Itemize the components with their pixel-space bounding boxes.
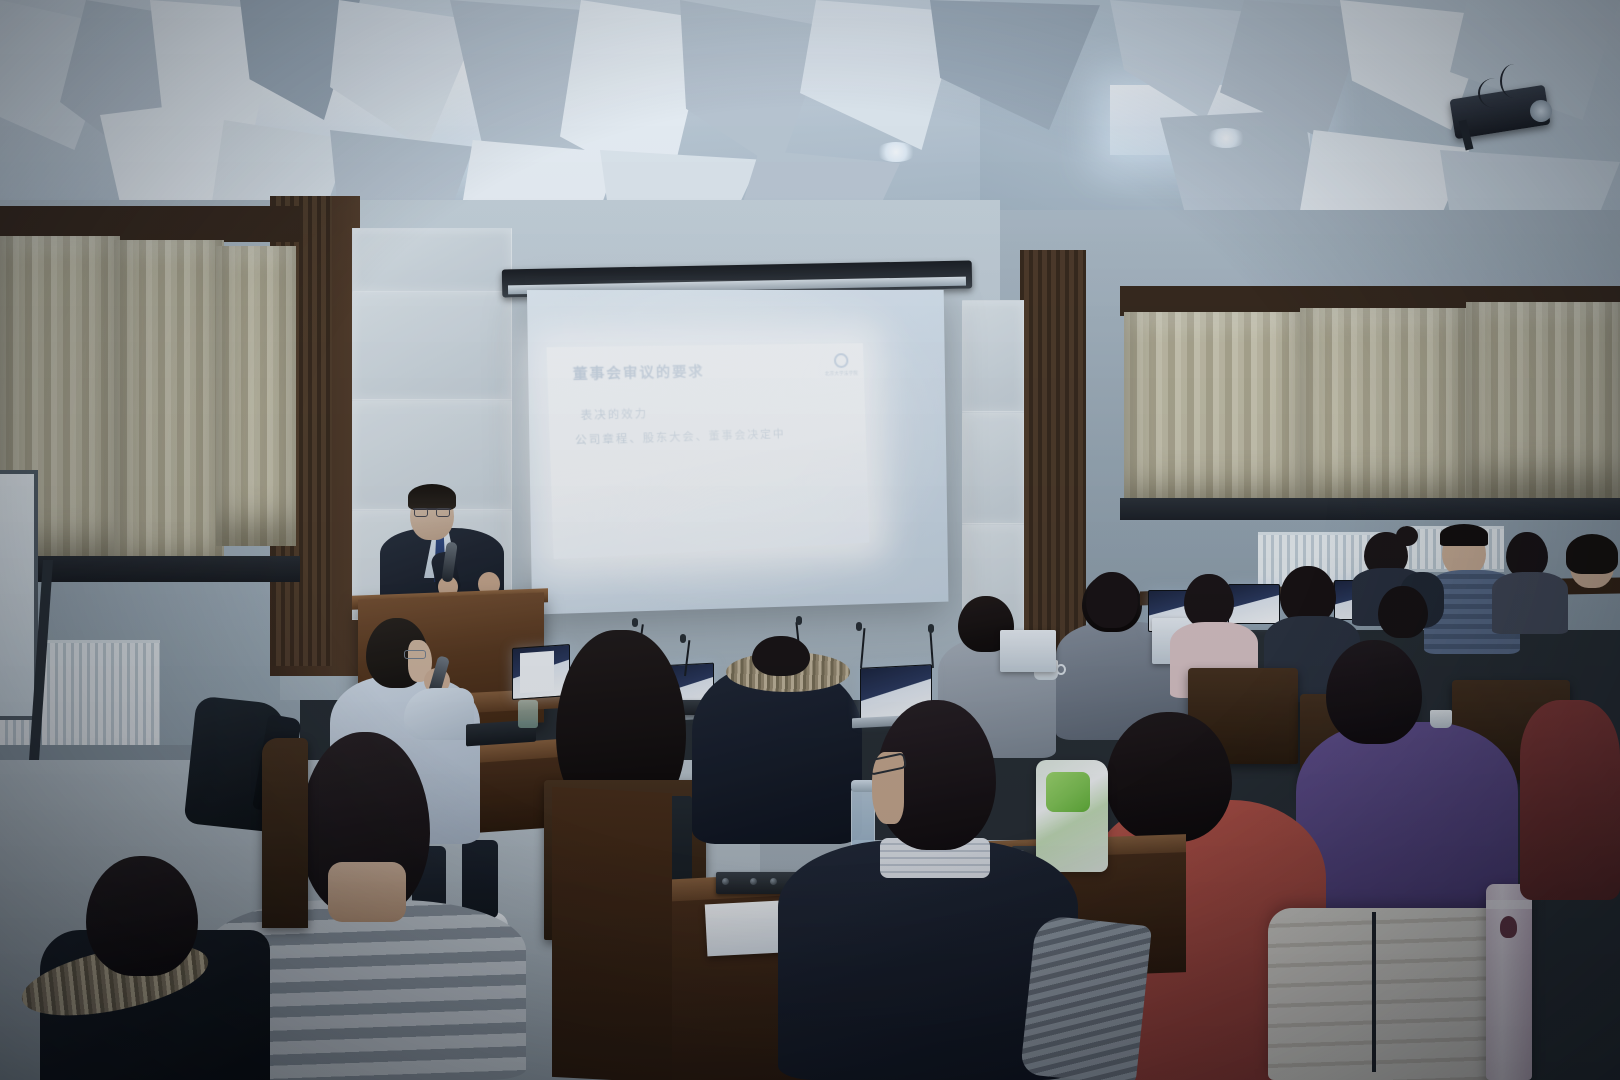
attendee-hair <box>1440 524 1488 546</box>
slide-title: 董事会审议的要求 <box>573 361 705 384</box>
beige-window-curtain <box>114 240 224 580</box>
microphone-head <box>680 634 686 643</box>
projected-slide: 董事会审议的要求 表决的效力 公司章程、股东大会、董事会决定中 北京大学法学院 <box>547 343 870 559</box>
pink-thermos-flask <box>1486 884 1532 1080</box>
glass-jar <box>518 700 538 728</box>
padded-acoustic-wall-panels <box>962 300 1024 412</box>
glasses-icon <box>404 650 426 659</box>
desk-front-panel <box>552 787 672 1080</box>
mug-handle <box>1056 664 1066 675</box>
beige-window-curtain <box>216 246 296 546</box>
console-knob[interactable] <box>722 878 729 885</box>
whiteboard-on-stand <box>0 470 38 720</box>
slide-bullet-2: 公司章程、股东大会、董事会决定中 <box>575 425 786 448</box>
attendee-neck <box>328 862 406 922</box>
attendee-head <box>752 636 810 676</box>
microphone-head <box>928 624 934 633</box>
white-puffer-coat <box>1268 908 1518 1080</box>
list-item <box>1184 574 1234 628</box>
thermos-logo-icon <box>1500 916 1517 938</box>
hair-bun-icon <box>1396 526 1418 546</box>
console-knob[interactable] <box>770 878 777 885</box>
list-item <box>1086 572 1138 628</box>
microphone-head <box>856 622 862 631</box>
wooden-conference-chair <box>262 738 308 928</box>
microphone-head <box>632 618 638 627</box>
circular-company-logo-icon <box>834 353 849 368</box>
padded-acoustic-wall-panels <box>352 290 512 400</box>
slide-bullet-1: 表决的效力 <box>580 405 648 423</box>
moderator-sleeve <box>404 688 474 740</box>
lecture-hall-photo: 董事会审议的要求 表决的效力 公司章程、股东大会、董事会决定中 北京大学法学院 <box>0 0 1620 1080</box>
beige-window-curtain <box>1124 312 1304 512</box>
console-knob[interactable] <box>750 878 757 885</box>
recessed-downlight <box>876 142 916 162</box>
microphone-head <box>796 616 802 625</box>
attendee-head <box>1326 640 1422 744</box>
list-item <box>1378 586 1428 638</box>
glasses-lens <box>436 508 450 517</box>
padded-acoustic-wall-panels <box>352 228 512 292</box>
projector-cable <box>1500 64 1528 98</box>
wood-slat-column <box>1020 250 1086 670</box>
attendee-body <box>1492 572 1568 634</box>
beige-window-curtain <box>1466 302 1620 498</box>
recessed-downlight <box>1206 128 1246 148</box>
slide-logo-caption: 北京大学法学院 <box>825 371 858 377</box>
projection-screen: 董事会审议的要求 表决的效力 公司章程、股东大会、董事会决定中 北京大学法学院 <box>527 290 949 615</box>
gray-scarf <box>1020 914 1152 1080</box>
thermos-band <box>1486 900 1532 909</box>
attendee-hair <box>1566 534 1618 574</box>
plastic-bag-print <box>1046 772 1090 812</box>
curtain-bottom-shadow <box>1120 498 1620 520</box>
presenter-hair <box>408 484 456 510</box>
list-item <box>1520 700 1620 900</box>
glasses-lens <box>414 508 428 517</box>
attendee-head <box>86 856 198 976</box>
attendee-head <box>1106 712 1232 842</box>
white-coffee-mug <box>1430 710 1452 728</box>
beige-window-curtain <box>1300 308 1470 508</box>
attendee-laptop <box>1228 584 1280 624</box>
padded-acoustic-wall-panels <box>962 412 1024 524</box>
dark-trouser-leg <box>462 840 498 918</box>
puffer-zipper <box>1372 912 1376 1072</box>
laptop-document-page <box>520 651 554 693</box>
attendee-laptop <box>1000 630 1056 672</box>
